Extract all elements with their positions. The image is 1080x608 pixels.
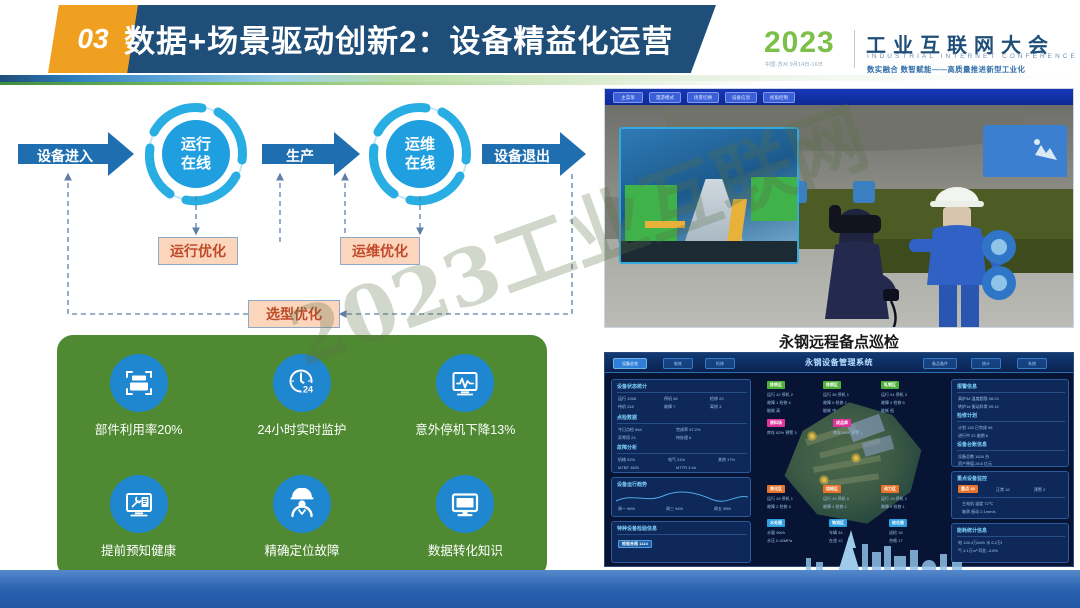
dashboard-nav-5[interactable]: 系统 (1017, 358, 1047, 369)
vr-avatar-worker (899, 173, 1019, 328)
benefit-item-2[interactable]: 意外停机下降13% (384, 335, 547, 457)
dashboard-nav-0[interactable]: 设备总览 (613, 358, 647, 369)
desktop-screen-icon (436, 475, 494, 533)
vr-tab-2[interactable]: 场景切换 (687, 92, 719, 103)
vr-display-green-left (625, 185, 677, 247)
svg-text:24: 24 (303, 384, 313, 394)
dashboard-right-panel-2-title: 设备台账信息 (957, 441, 987, 448)
vr-caption: 永钢远程备点巡检 (604, 331, 1074, 352)
map-tag-9[interactable]: 物流区 (829, 519, 847, 527)
map-tag-4[interactable]: 成品库 (833, 419, 851, 427)
dashboard-right-panel-3-title: 重点设备监控 (957, 475, 987, 482)
vr-display-panel (619, 127, 799, 264)
vr-tab-3[interactable]: 设备信息 (725, 92, 757, 103)
dashboard-trend-sparkline (613, 489, 751, 505)
dashboard-title: 永钢设备管理系统 (805, 357, 873, 368)
dashboard-left-panel-3-title: 设备运行趋势 (617, 481, 647, 488)
optimization-box-selection: 选型优化 (248, 300, 340, 328)
vr-tab-4[interactable]: 视角控制 (763, 92, 795, 103)
city-building-2 (872, 552, 881, 572)
equipment-management-dashboard: 永钢设备管理系统 设备总览 能耗 检修 备品备件 统计 系统 设备状态统计 运行… (604, 352, 1074, 567)
optimization-box-maintenance: 运维优化 (340, 237, 420, 265)
dashboard-right-panel-0-title: 报警信息 (957, 383, 977, 390)
vr-user-silhouette (801, 175, 911, 328)
dashboard-left-panel-0[interactable]: 设备状态统计 运行 1268 停机 46 检修 22 待机 318 故障 7 离… (611, 379, 751, 473)
vr-info-billboard (983, 125, 1067, 177)
flow-arrow-label-entry: 设备进入 (22, 146, 108, 166)
divider (957, 536, 1065, 537)
dashboard-nav-2[interactable]: 检修 (705, 358, 735, 369)
dashboard-left-panel-2-title: 故障分析 (617, 444, 637, 451)
benefit-label-2: 意外停机下降13% (415, 419, 515, 438)
worker-helmet-icon (273, 475, 331, 533)
logo-divider (854, 30, 855, 68)
monitor-wrench-icon (110, 475, 168, 533)
vr-display-green-right (751, 177, 799, 221)
vr-inspection-screenshot: 主菜单 漫游模式 场景切换 设备信息 视角控制 (604, 88, 1074, 328)
divider (957, 392, 1065, 393)
divider (617, 453, 747, 454)
map-tag-1[interactable]: 炼钢区 (823, 381, 841, 389)
clock-24h-icon: 24 (273, 354, 331, 412)
vr-display-console (621, 241, 799, 264)
map-tag-6[interactable]: 烧结区 (823, 485, 841, 493)
map-tag-5[interactable]: 焦化区 (767, 485, 785, 493)
dashboard-factory-map[interactable] (763, 383, 943, 543)
benefit-item-1[interactable]: 24 24小时实时监护 (220, 335, 383, 457)
logo-name-en: INDUSTRIAL INTERNET CONFERENCE (867, 53, 1078, 60)
benefits-grid: 部件利用率20% 24 24小时实时监护 (57, 335, 547, 578)
divider (957, 450, 1065, 451)
map-tag-7[interactable]: 动力区 (881, 485, 899, 493)
flow-circle-maintenance-line1: 运维 (405, 136, 435, 153)
divider (957, 421, 1065, 422)
divider (617, 534, 747, 535)
flow-graphics (0, 92, 600, 332)
map-tag-3[interactable]: 原料场 (767, 419, 785, 427)
map-tag-8[interactable]: 水处理 (767, 519, 785, 527)
dashboard-left-panel-0-title: 设备状态统计 (617, 383, 647, 390)
logo-year-subtitle: 中国·苏州 9月14日-16日 (765, 61, 823, 68)
map-marker-2[interactable] (819, 475, 829, 485)
divider (617, 423, 747, 424)
dashboard-nav-4[interactable]: 统计 (971, 358, 1001, 369)
dashboard-right-panel-0[interactable]: 报警信息 高炉3# 温度超限 08:24 转炉1# 振动异常 09:12 检修计… (951, 379, 1069, 467)
benefit-item-0[interactable]: 部件利用率20% (57, 335, 220, 457)
city-building-1 (862, 544, 868, 572)
flow-circle-running-line1: 运行 (181, 136, 211, 153)
lifecycle-flow-diagram: 设备进入 生产 设备退出 运行 在线 运维 在线 运行优化 运维优化 选型优化 (0, 92, 600, 332)
dashboard-right-panel-3[interactable]: 重点设备监控 重点 18 正常 16 预警 2 主电机 温度 72℃ 轴承 振动… (951, 471, 1069, 519)
benefit-label-0: 部件利用率20% (95, 419, 183, 438)
dashboard-nav-1[interactable]: 能耗 (663, 358, 693, 369)
map-marker-1[interactable] (851, 453, 861, 463)
dashboard-left-panel-1-title: 点检数据 (617, 414, 637, 421)
vr-toolbar: 主菜单 漫游模式 场景切换 设备信息 视角控制 (605, 89, 1074, 105)
bottom-decorative-band (0, 556, 1080, 608)
divider (957, 497, 1065, 498)
map-marker-0[interactable] (807, 431, 817, 441)
header-green-rule (0, 82, 760, 85)
dashboard-left-panel-4-title: 特种设备检验信息 (617, 525, 657, 532)
flow-arrow-label-exit: 设备退出 (484, 146, 560, 166)
band-wave-highlight (0, 570, 1080, 590)
dashboard-nav-3[interactable]: 备品备件 (923, 358, 957, 369)
page-title: 数据+场景驱动创新2：设备精益化运营 (124, 16, 694, 61)
city-building-5 (910, 550, 918, 572)
benefits-panel: 部件利用率20% 24 24小时实时监护 (57, 335, 547, 578)
optimization-box-running: 运行优化 (158, 237, 238, 265)
scan-document-icon (110, 354, 168, 412)
dashboard-right-panel-1-title: 检修计划 (957, 412, 977, 419)
flow-circle-maintenance: 运维 在线 (390, 135, 450, 173)
map-tag-10[interactable]: 检化验 (889, 519, 907, 527)
logo-slogan: 数实融合 数智赋能——高质量推进新型工业化 (867, 64, 1025, 75)
tower-silhouette-top (846, 530, 856, 548)
divider (617, 392, 747, 393)
vr-display-yellow-bar (645, 221, 685, 228)
map-tag-2[interactable]: 轧钢区 (881, 381, 899, 389)
vr-tab-1[interactable]: 漫游模式 (649, 92, 681, 103)
map-tag-0[interactable]: 炼铁区 (767, 381, 785, 389)
city-building-3 (884, 546, 891, 572)
flow-circle-running-line2: 在线 (181, 155, 211, 172)
monitor-waveform-icon (436, 354, 494, 412)
flow-circle-running: 运行 在线 (166, 135, 226, 173)
section-number-text: 03 (77, 23, 108, 55)
vr-tab-0[interactable]: 主菜单 (613, 92, 643, 103)
conference-logo: 2023 中国·苏州 9月14日-16日 工业互联网大会 INDUSTRIAL … (764, 28, 1064, 78)
benefit-label-1: 24小时实时监护 (258, 419, 347, 438)
dashboard-left-panel-3[interactable]: 设备运行趋势 周一 96% 周三 94% 周五 98% (611, 477, 751, 517)
logo-year: 2023 (764, 28, 835, 58)
dashboard-right-panel-4-title: 能耗统计信息 (957, 527, 987, 534)
flow-arrow-label-production: 生产 (266, 146, 334, 166)
flow-circle-maintenance-line2: 在线 (405, 155, 435, 172)
